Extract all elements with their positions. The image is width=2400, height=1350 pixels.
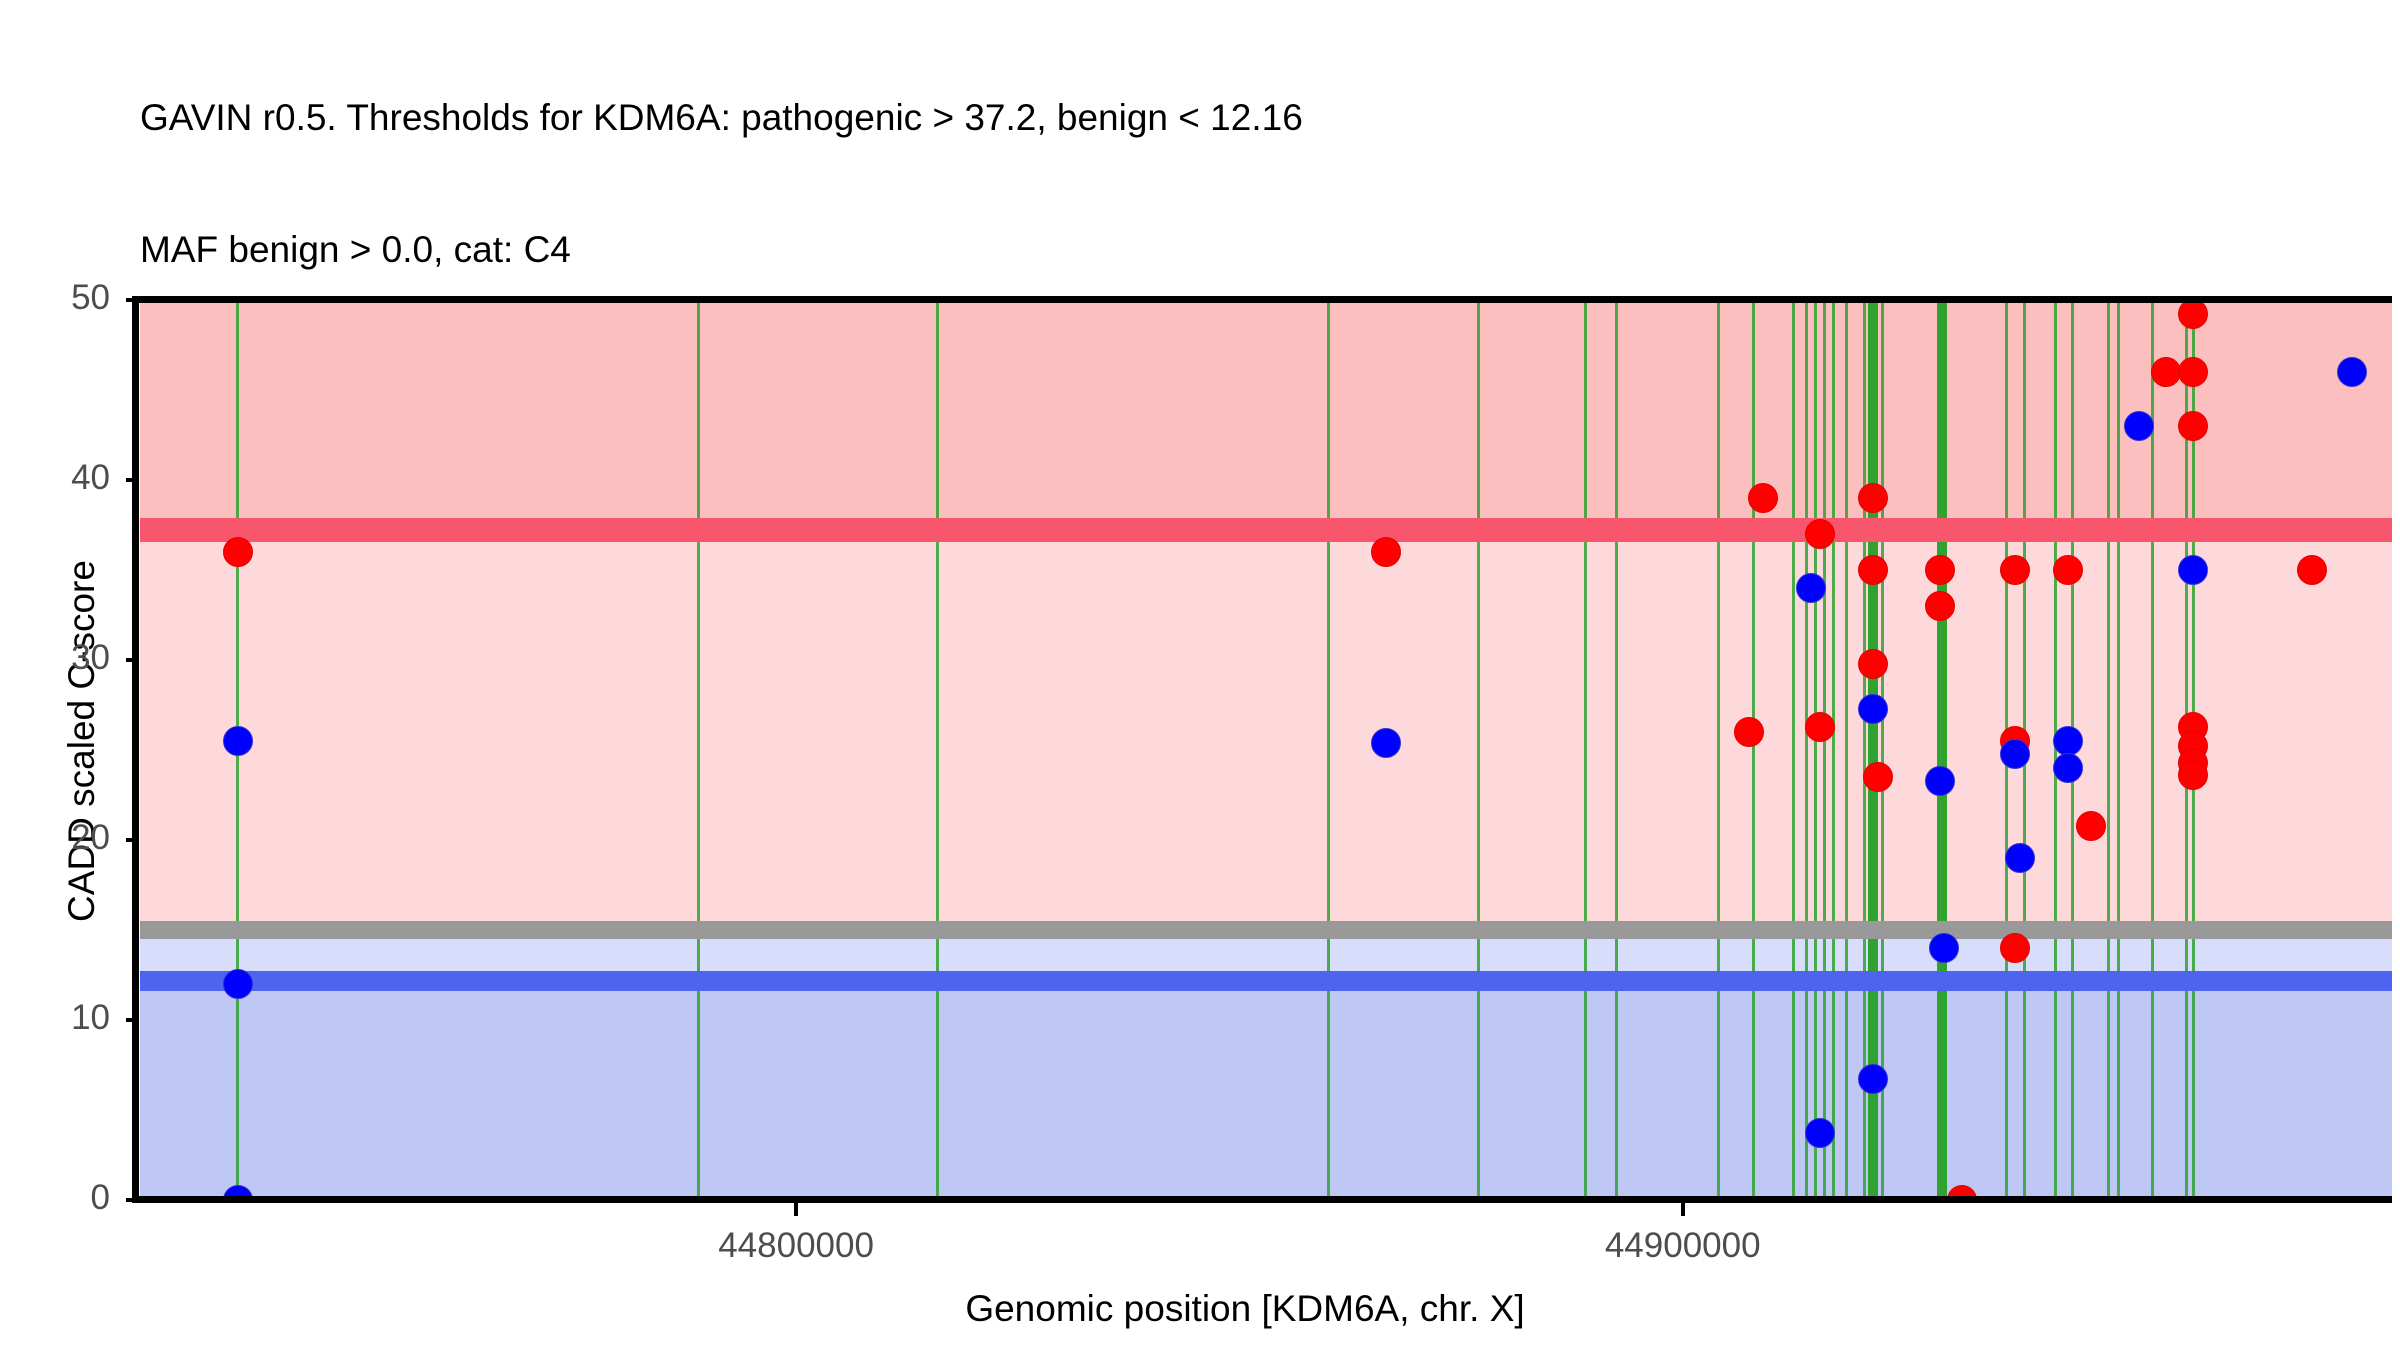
exon-line (1823, 300, 1826, 1200)
plot-panel (140, 300, 2392, 1200)
exon-line (1615, 300, 1618, 1200)
exon-line (1845, 300, 1848, 1200)
x-axis-title: Genomic position [KDM6A, chr. X] (140, 1288, 2350, 1330)
exon-line (1717, 300, 1720, 1200)
data-point-gnomad (2005, 843, 2035, 873)
data-point-pathogenic (2178, 357, 2208, 387)
threshold-pathogenic (140, 518, 2392, 542)
y-axis-tick-label: 10 (20, 998, 110, 1038)
title-line-1: GAVIN r0.5. Thresholds for KDM6A: pathog… (140, 96, 2140, 140)
data-point-pathogenic (1863, 762, 1893, 792)
exon-line (1477, 300, 1480, 1200)
exon-line (1792, 300, 1795, 1200)
data-point-pathogenic (2178, 300, 2208, 329)
threshold-benign (140, 971, 2392, 991)
exon-line (1327, 300, 1330, 1200)
title-line-2: MAF benign > 0.0, cat: C4 (140, 228, 2140, 272)
data-point-pathogenic (2000, 555, 2030, 585)
y-axis-tick (126, 478, 138, 482)
chart-figure: GAVIN r0.5. Thresholds for KDM6A: pathog… (0, 0, 2400, 1350)
data-point-gnomad (1858, 694, 1888, 724)
x-axis-tick (1681, 1203, 1685, 1216)
axis-line-bottom (132, 1196, 2392, 1203)
data-point-gnomad (223, 969, 253, 999)
data-point-pathogenic (2178, 411, 2208, 441)
data-point-pathogenic (1734, 717, 1764, 747)
y-axis-tick (126, 1198, 138, 1202)
data-point-pathogenic (2178, 760, 2208, 790)
data-point-pathogenic (2000, 933, 2030, 963)
exon-line (2151, 300, 2154, 1200)
data-point-pathogenic (223, 537, 253, 567)
data-point-pathogenic (2297, 555, 2327, 585)
data-point-pathogenic (1748, 483, 1778, 513)
data-point-gnomad (2337, 357, 2367, 387)
data-point-gnomad (2000, 739, 2030, 769)
threshold-fallback (140, 921, 2392, 939)
data-point-gnomad (1925, 766, 1955, 796)
data-point-gnomad (2178, 555, 2208, 585)
y-axis-tick (126, 658, 138, 662)
data-point-pathogenic (1805, 712, 1835, 742)
y-axis-tick (126, 1018, 138, 1022)
data-point-gnomad (1371, 728, 1401, 758)
data-point-pathogenic (1805, 519, 1835, 549)
data-point-gnomad (223, 726, 253, 756)
y-axis-tick-label: 20 (20, 818, 110, 858)
exon-line (2117, 300, 2120, 1200)
exon-line (2107, 300, 2110, 1200)
x-axis-tick-label: 44800000 (626, 1226, 966, 1266)
y-axis-tick (126, 838, 138, 842)
data-point-pathogenic (1925, 555, 1955, 585)
x-axis-tick-label: 44900000 (1513, 1226, 1853, 1266)
exon-line (1584, 300, 1587, 1200)
x-axis-tick (794, 1203, 798, 1216)
exon-line (697, 300, 700, 1200)
exon-line (1832, 300, 1835, 1200)
data-point-pathogenic (2076, 811, 2106, 841)
data-point-pathogenic (1371, 537, 1401, 567)
y-axis-tick-label: 0 (20, 1178, 110, 1218)
exon-line (1937, 300, 1947, 1200)
y-axis-tick-label: 50 (20, 278, 110, 318)
axis-line-top (132, 296, 2392, 303)
y-axis-tick-label: 40 (20, 458, 110, 498)
exon-line (1805, 300, 1808, 1200)
data-point-pathogenic (2151, 357, 2181, 387)
data-point-pathogenic (1858, 649, 1888, 679)
exon-line (1814, 300, 1817, 1200)
exon-line (936, 300, 939, 1200)
exon-line (1752, 300, 1755, 1200)
data-point-pathogenic (1925, 591, 1955, 621)
y-axis-tick-label: 30 (20, 638, 110, 678)
y-axis-tick (126, 298, 138, 302)
exon-line (1881, 300, 1884, 1200)
axis-line-left (132, 296, 139, 1203)
